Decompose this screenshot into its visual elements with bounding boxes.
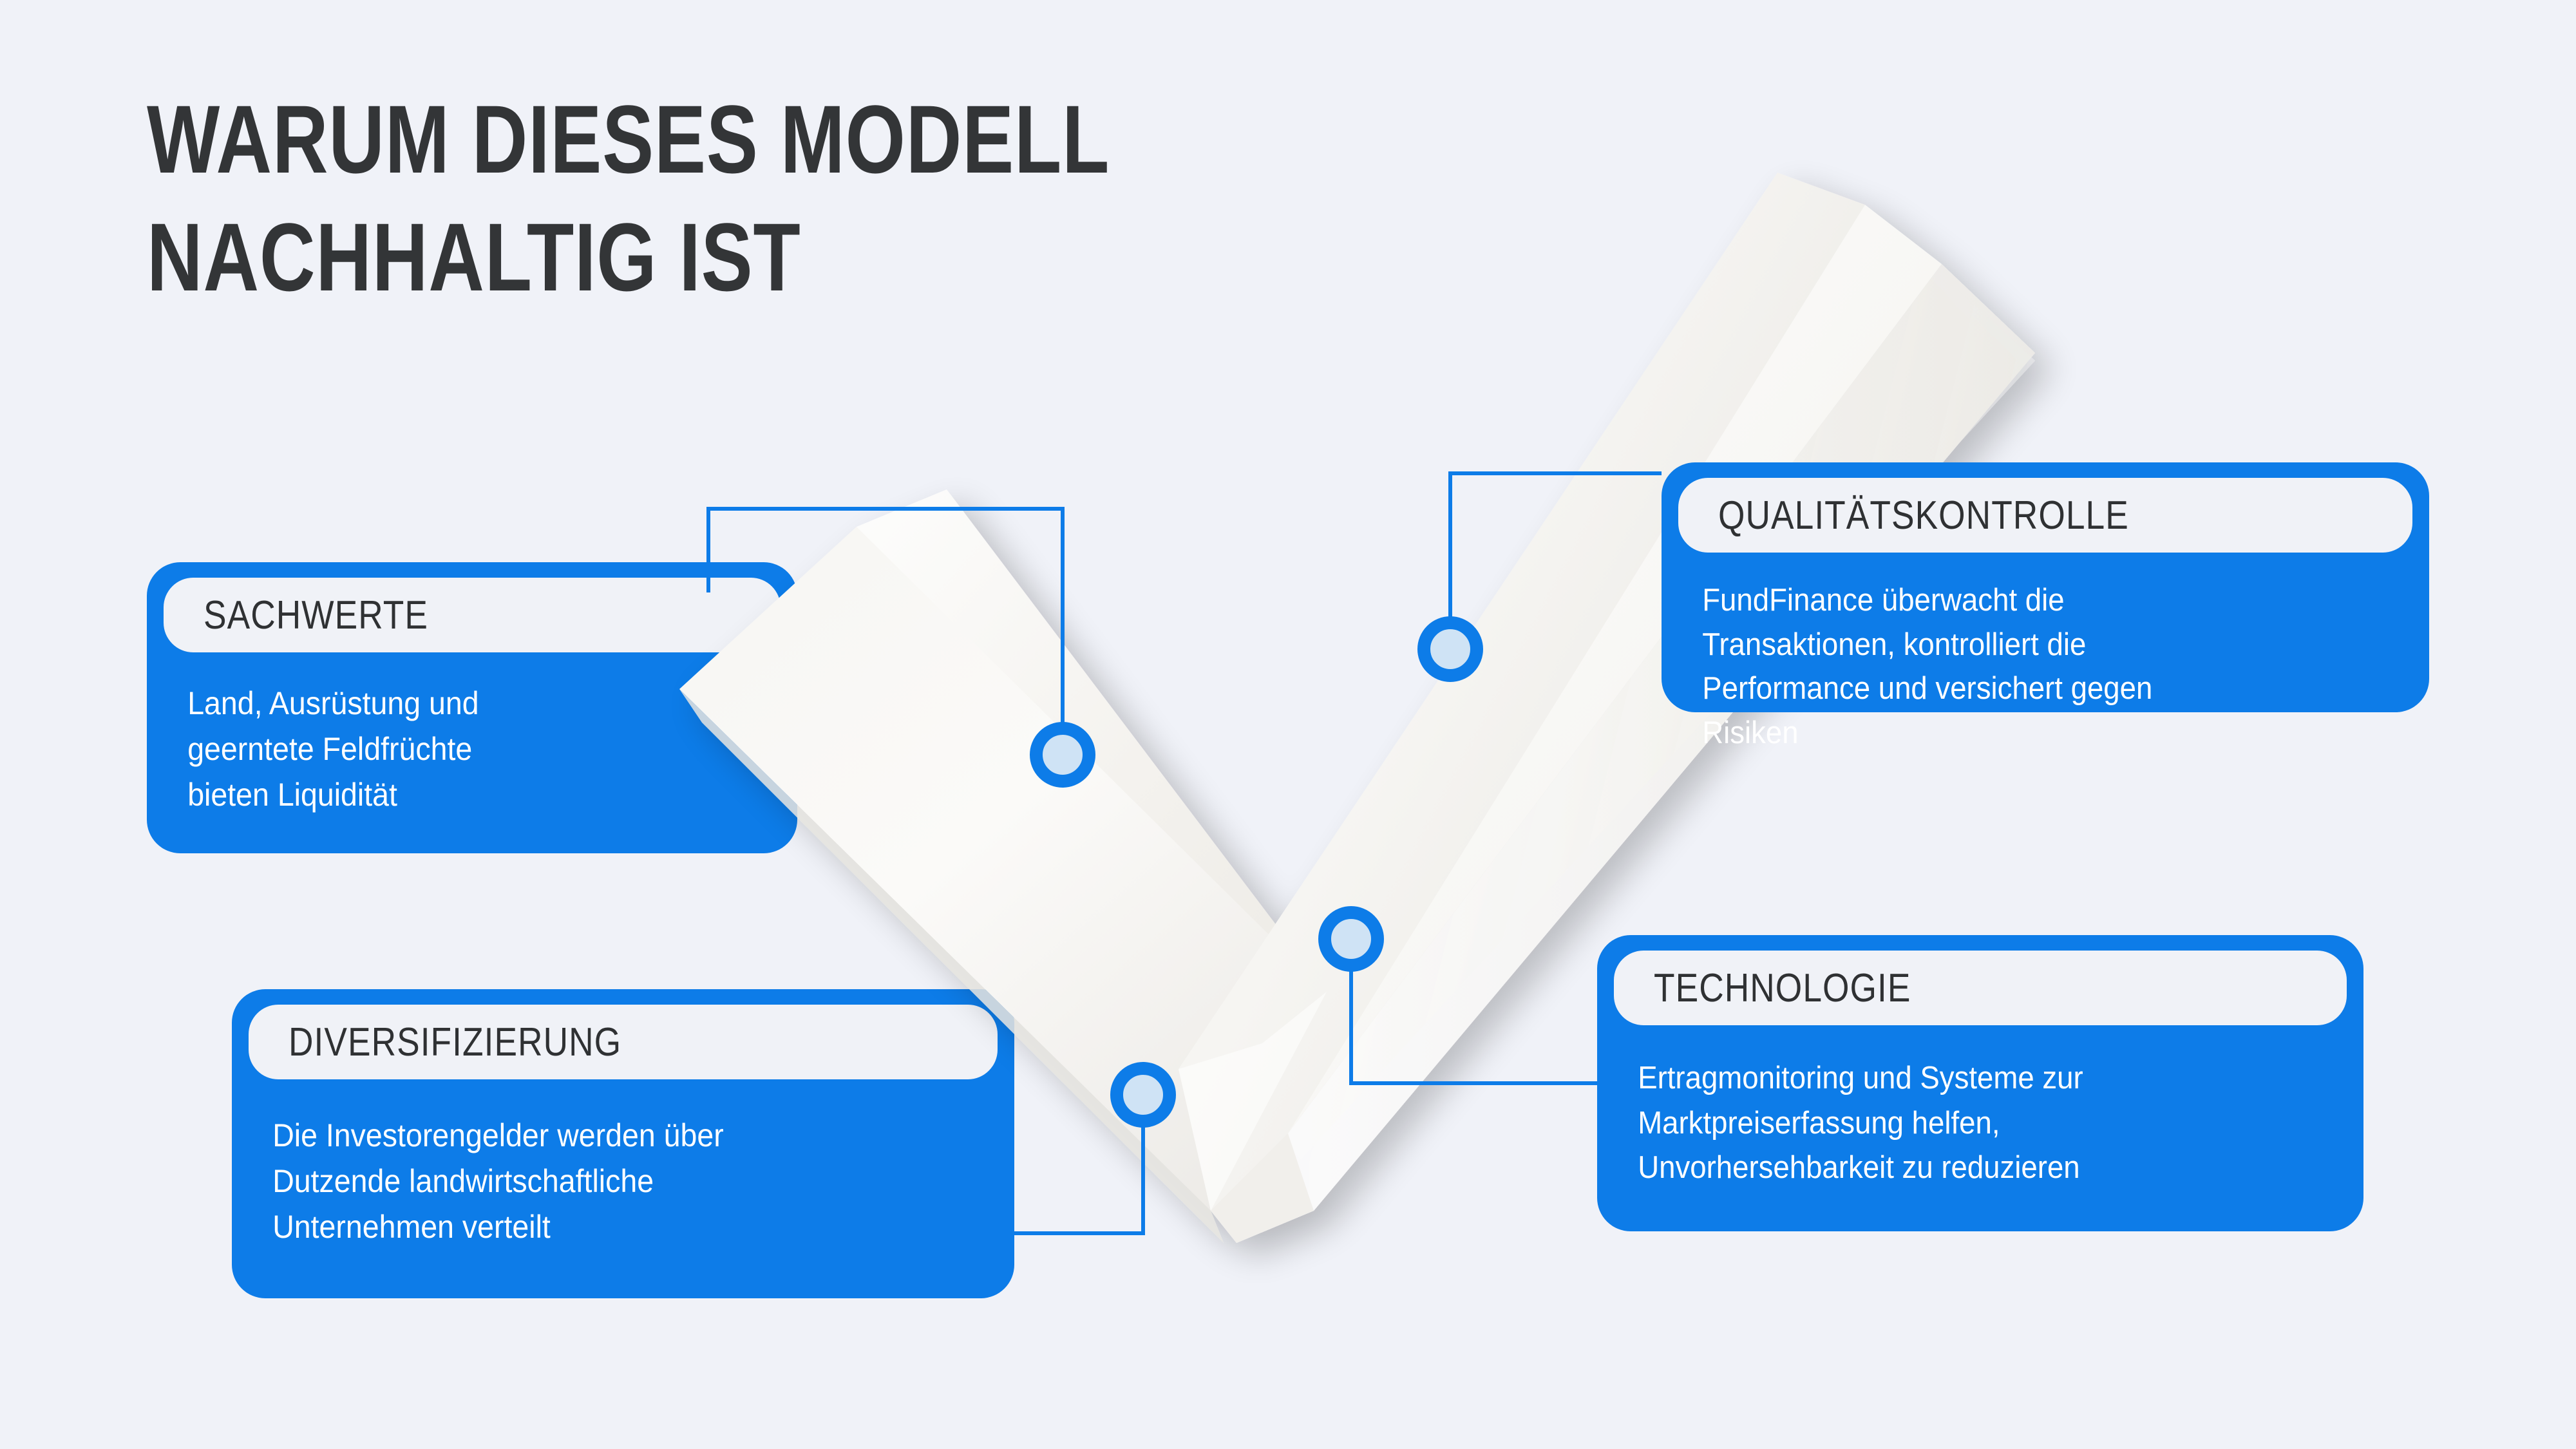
connector-dot-sachwerte[interactable] bbox=[1036, 728, 1089, 781]
page-title: WARUM DIESES MODELL NACHHALTIG IST bbox=[147, 80, 1383, 316]
connector-dots bbox=[1036, 623, 1477, 1121]
connector-sachwerte bbox=[708, 509, 1063, 728]
connector-diversifizierung bbox=[1014, 1124, 1143, 1233]
infographic-stage: SACHWERTE Land, Ausrüstung und geerntete… bbox=[0, 0, 2576, 1449]
connector-dot-qualitaetskontrolle[interactable] bbox=[1424, 623, 1477, 676]
connector-dot-technologie[interactable] bbox=[1325, 913, 1378, 965]
connector-technologie bbox=[1351, 967, 1597, 1083]
connector-dot-diversifizierung[interactable] bbox=[1117, 1068, 1170, 1121]
connector-qualitaetskontrolle bbox=[1450, 473, 1662, 621]
